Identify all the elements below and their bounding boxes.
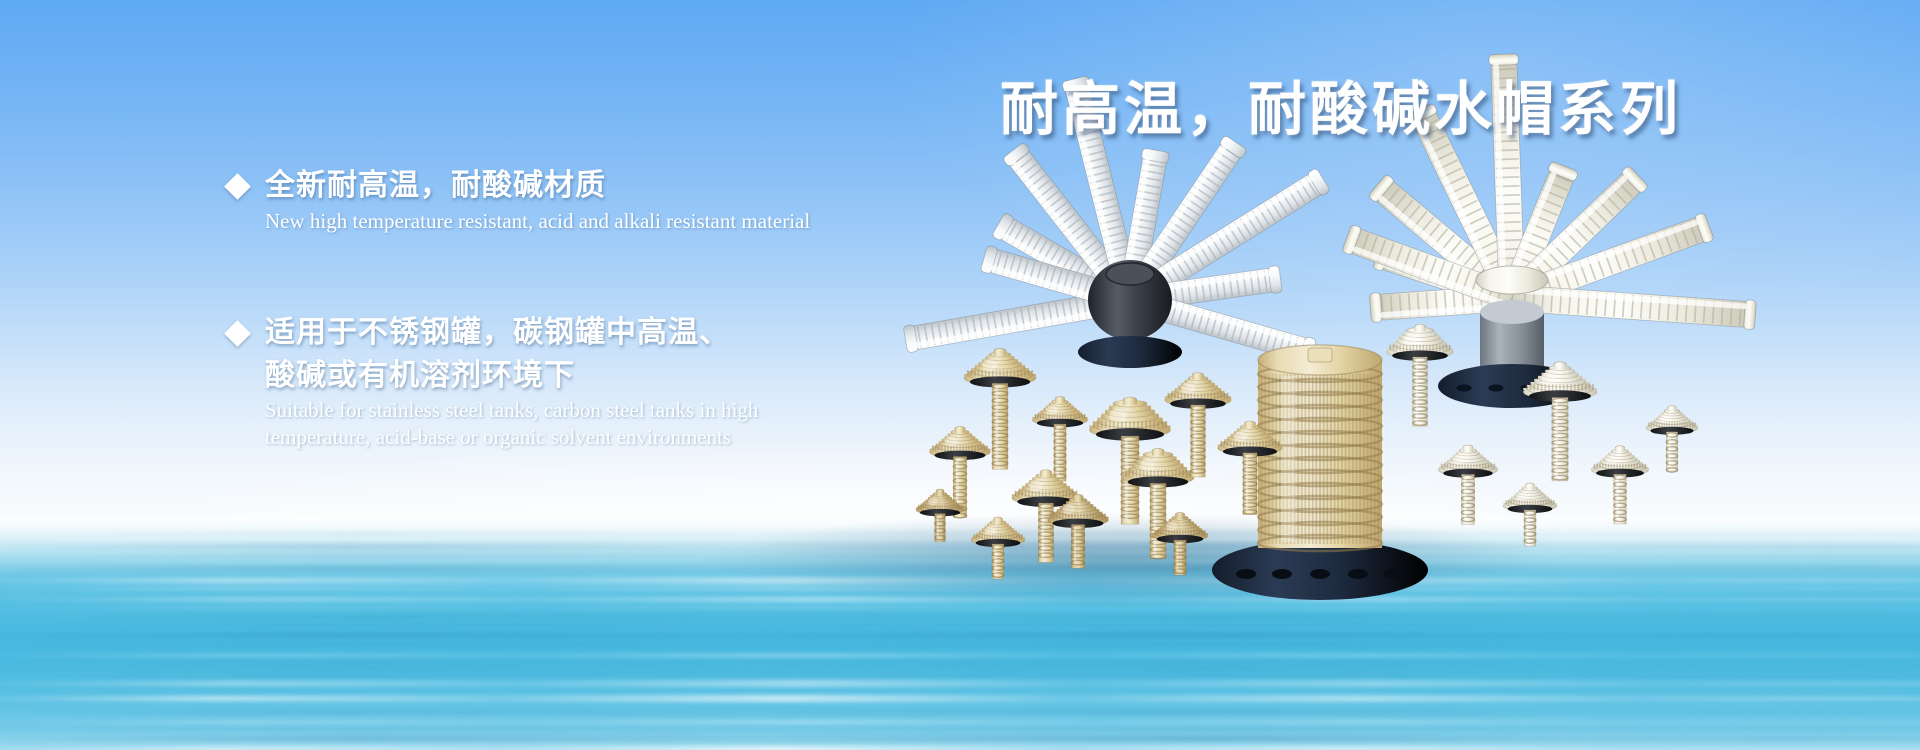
- feature-2-cn-line-1: 适用于不锈钢罐，碳钢罐中高温、: [265, 312, 730, 355]
- product-banner: 耐高温，耐酸碱水帽系列 全新耐高温，耐酸碱材质 New high tempera…: [0, 0, 1920, 750]
- diamond-bullet-icon: [224, 173, 251, 200]
- page-title: 耐高温，耐酸碱水帽系列: [1000, 62, 1682, 146]
- diamond-bullet-icon: [224, 320, 251, 347]
- feature-1-en-line-1: New high temperature resistant, acid and…: [228, 208, 810, 234]
- feature-bullet-1: 全新耐高温，耐酸碱材质 New high temperature resista…: [228, 165, 810, 234]
- water-background: [0, 516, 1920, 750]
- feature-2-cn-line-2: 酸碱或有机溶剂环境下: [265, 355, 730, 398]
- feature-2-en-line-2: temperature, acid-base or organic solven…: [228, 424, 758, 450]
- feature-bullet-2: 适用于不锈钢罐，碳钢罐中高温、 酸碱或有机溶剂环境下 Suitable for …: [228, 312, 758, 450]
- feature-1-cn-line-1: 全新耐高温，耐酸碱材质: [265, 165, 606, 208]
- feature-2-en-line-1: Suitable for stainless steel tanks, carb…: [228, 397, 758, 423]
